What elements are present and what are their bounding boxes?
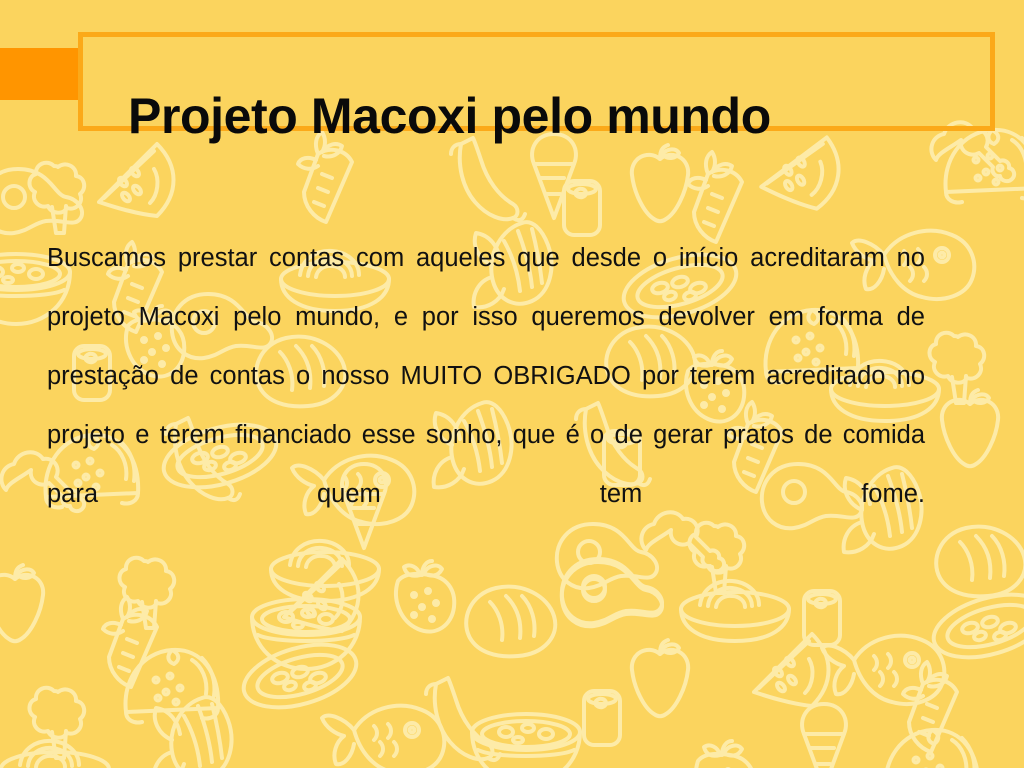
body-paragraph: Buscamos prestar contas com aqueles que … (47, 229, 925, 583)
slide-canvas: Projeto Macoxi pelo mundo Buscamos prest… (0, 0, 1024, 768)
title-accent-block (0, 48, 78, 100)
page-title: Projeto Macoxi pelo mundo (128, 74, 928, 158)
